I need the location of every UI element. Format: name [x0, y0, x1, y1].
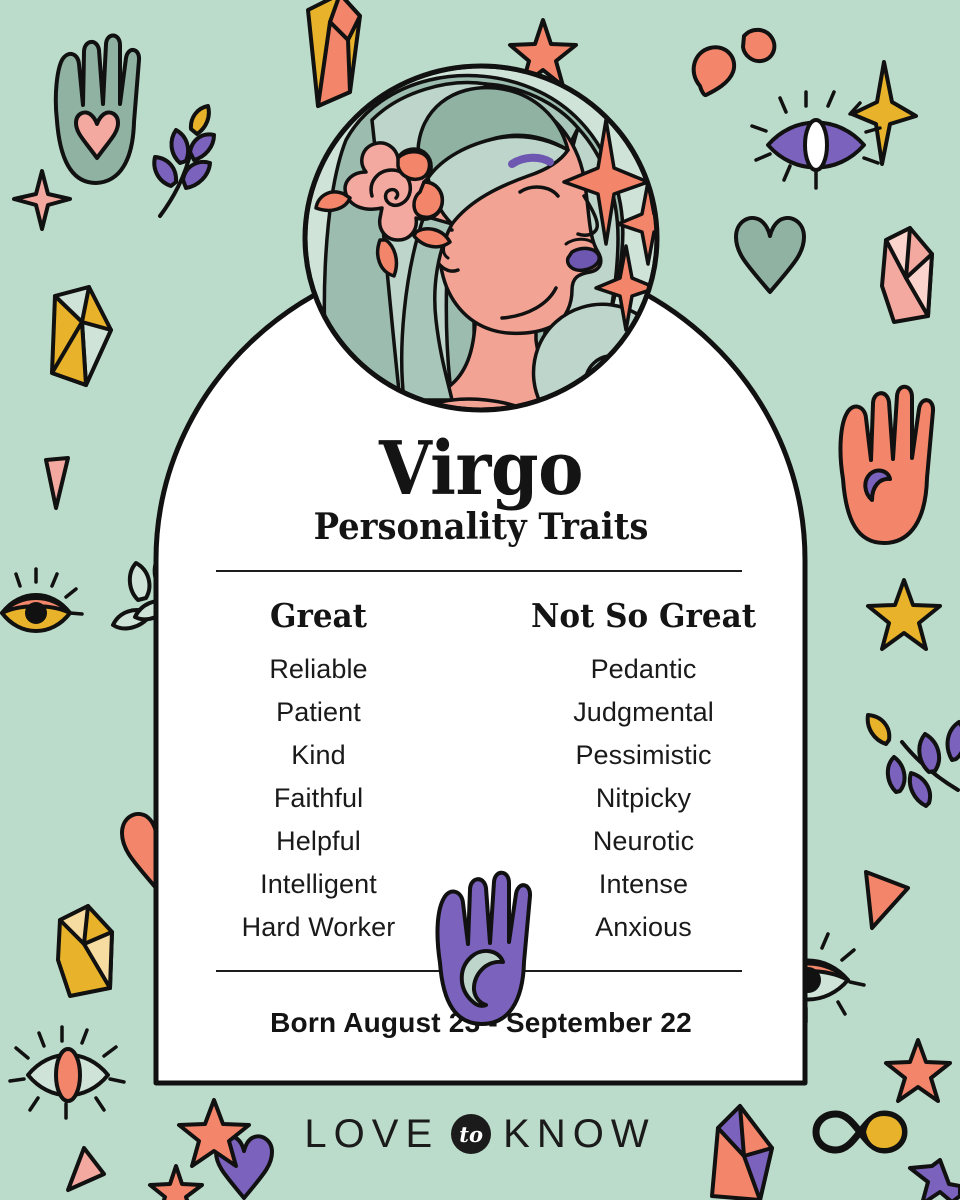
lovetoknow-logo[interactable]: LOVE to KNOW: [0, 1110, 960, 1158]
logo-word-know: KNOW: [503, 1112, 655, 1157]
poster: Virgo Personality Traits Great Reliable …: [0, 0, 960, 1200]
hand-with-moon-icon: [0, 0, 960, 1200]
logo-word-love: LOVE: [304, 1112, 439, 1157]
logo-badge-to: to: [451, 1114, 491, 1154]
